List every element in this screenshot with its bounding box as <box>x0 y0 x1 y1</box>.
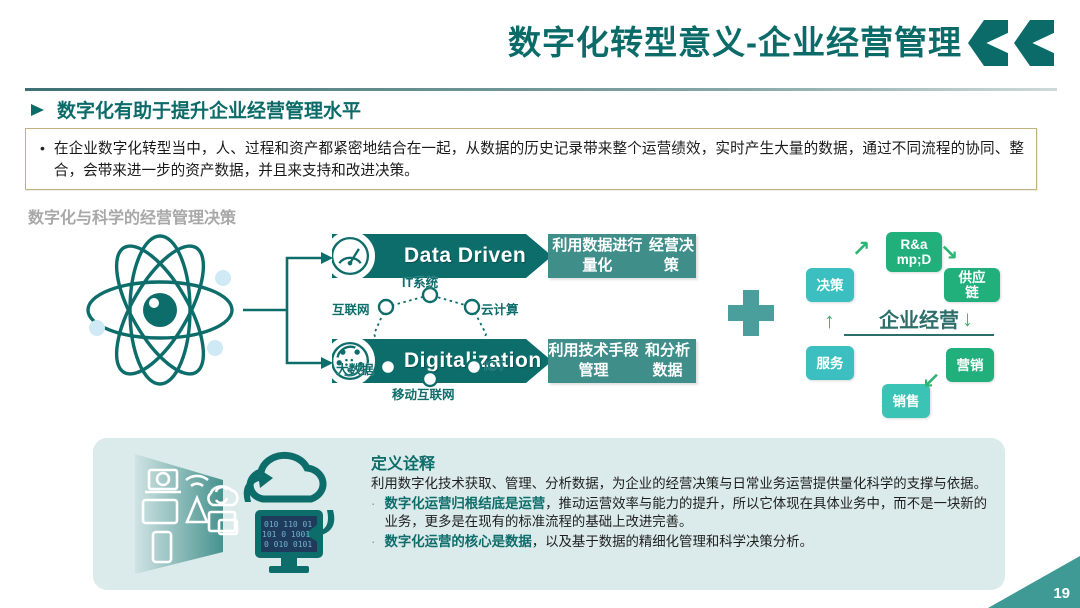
tech-node-network: IT系统 互联网 云计算 大数据 IOT 移动互联网 <box>330 274 570 394</box>
callout-bullet: • <box>40 138 45 182</box>
cycle-node-supply[interactable]: 供应链 <box>944 268 1000 302</box>
arrow-right-bullet-icon <box>30 102 46 118</box>
cycle-node-rd-line1: R&a <box>900 237 927 252</box>
definition-body: 利用数字化技术获取、管理、分析数据，为企业的经营决策与日常业务运营提供量化科学的… <box>371 475 989 494</box>
double-chevron-left-icon <box>968 20 1066 66</box>
callout-text: 在企业数字化转型当中，人、过程和资产都紧密地结合在一起，从数据的历史记录带来整个… <box>54 138 1024 182</box>
header-divider <box>25 88 1057 91</box>
node-label-cloud: 云计算 <box>481 299 519 318</box>
outcome-box-1: 利用数据进行量化 经营决策 <box>548 234 696 278</box>
outcome-1-line2: 经营决策 <box>647 236 696 276</box>
definition-panel: 010 110 01 101 0 1001 0 010 0101 定义诠释 利用… <box>93 438 1005 590</box>
svg-text:010 110 01: 010 110 01 <box>264 520 312 529</box>
cycle-arrow-1: ↗ <box>852 238 870 260</box>
left-edge-spacer <box>0 0 6 608</box>
cycle-node-service[interactable]: 服务 <box>806 346 854 380</box>
cycle-node-rd-line2: mp;D <box>897 252 932 267</box>
definition-bullet-1-marker: · <box>371 495 375 532</box>
outcome-box-2: 利用技术手段管理 和分析数据 <box>548 339 696 383</box>
cycle-arrow-5: ↑ <box>824 310 835 332</box>
definition-text-block: 定义诠释 利用数字化技术获取、管理、分析数据，为企业的经营决策与日常业务运营提供… <box>371 450 989 551</box>
node-label-mobile: 移动互联网 <box>392 384 455 403</box>
cycle-node-decision[interactable]: 决策 <box>806 268 854 302</box>
chevron-left-icon-1 <box>968 20 1008 66</box>
diagram-area: Data Driven Digitalization <box>0 222 1080 432</box>
slide-header: 数字化转型意义-企业经营管理 <box>0 0 1080 82</box>
chevron-left-icon-2 <box>1014 20 1054 66</box>
panel-icon-cluster: 010 110 01 101 0 1001 0 010 0101 <box>105 448 355 580</box>
atom-icon <box>75 230 245 390</box>
definition-bullet-2: · 数字化运营的核心是数据，以及基于数据的精细化管理和科学决策分析。 <box>371 533 989 552</box>
banner-label-data-driven: Data Driven <box>404 244 526 268</box>
node-label-it: IT系统 <box>402 272 438 291</box>
banner-data-driven[interactable]: Data Driven <box>332 234 552 278</box>
definition-bullet-1-bold: 数字化运营归根结底是运营 <box>384 496 545 511</box>
node-label-internet: 互联网 <box>332 299 370 318</box>
node-label-bigdata: 大数据 <box>336 359 374 378</box>
svg-text:101 0 1001: 101 0 1001 <box>262 530 310 539</box>
definition-bullet-1: · 数字化运营归根结底是运营，推动运营效率与能力的提升，所以它体现在具体业务中，… <box>371 495 989 532</box>
callout-box: • 在企业数字化转型当中，人、过程和资产都紧密地结合在一起，从数据的历史记录带来… <box>25 128 1037 190</box>
definition-bullet-2-bold: 数字化运营的核心是数据 <box>384 534 531 549</box>
cycle-arrow-4: ↙ <box>922 370 940 392</box>
cycle-node-rd[interactable]: R&a mp;D <box>886 232 942 272</box>
definition-bullet-2-rest: ，以及基于数据的精细化管理和科学决策分析。 <box>532 534 813 549</box>
plus-icon <box>728 290 774 336</box>
cycle-arrow-2: ↘ <box>940 242 958 264</box>
section-heading: 数字化有助于提升企业经营管理水平 <box>30 96 361 123</box>
section-heading-label: 数字化有助于提升企业经营管理水平 <box>57 96 361 123</box>
definition-bullet-2-marker: · <box>371 533 375 552</box>
slide-root: 数字化转型意义-企业经营管理 数字化有助于提升企业经营管理水平 • 在企业数字化… <box>0 0 1080 608</box>
node-label-iot: IOT <box>484 359 505 373</box>
cycle-node-marketing[interactable]: 营销 <box>946 348 994 382</box>
cycle-arrow-3: ↓ <box>962 308 973 330</box>
business-cycle-diagram: 企业经营 R&a mp;D 供应链 营销 销售 服务 决策 ↗ ↘ ↓ ↙ ↑ <box>790 220 1070 420</box>
page-title: 数字化转型意义-企业经营管理 <box>508 16 962 64</box>
outcome-2-line2: 和分析数据 <box>639 341 696 381</box>
svg-text:0 010 0101: 0 010 0101 <box>264 540 312 549</box>
definition-title: 定义诠释 <box>371 450 989 474</box>
page-number: 19 <box>1053 585 1070 602</box>
connector-lines <box>243 230 333 390</box>
outcome-1-line1: 利用数据进行量化 <box>548 236 647 276</box>
